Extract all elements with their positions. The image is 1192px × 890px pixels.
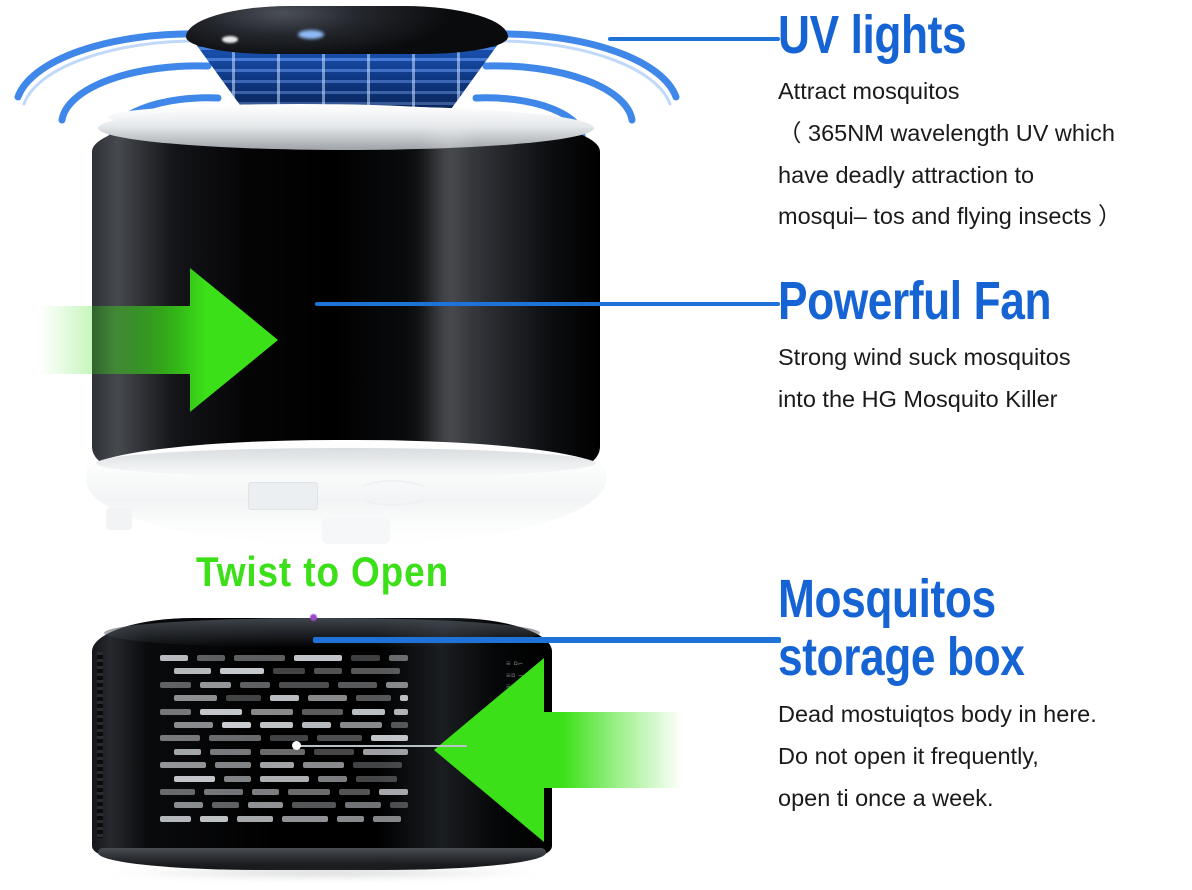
leader-line-storage-box xyxy=(313,637,781,643)
cylinder-gloss-highlight xyxy=(420,126,478,456)
callout-body-storage-box: Dead mostuiqtos body in here. Do not ope… xyxy=(778,694,1190,819)
grille-slot xyxy=(220,668,264,674)
leader-line-vent-endpoint xyxy=(292,741,301,750)
grille-slot xyxy=(215,762,251,768)
grille-slot xyxy=(160,762,206,768)
grille-slot xyxy=(391,722,408,728)
grille-slot xyxy=(273,668,305,674)
grille-slot xyxy=(394,709,408,715)
grille-slot xyxy=(160,709,191,715)
grille-slot xyxy=(373,816,401,822)
leader-line-vent-detail xyxy=(295,745,467,747)
grille-row xyxy=(160,802,410,815)
storage-box-shadow xyxy=(110,866,540,880)
callout-line: Dead mostuiqtos body in here. xyxy=(778,694,1190,736)
grille-slot xyxy=(224,776,251,782)
callout-title-uv-lights: UV lights xyxy=(778,8,1116,62)
grille-slot xyxy=(318,776,347,782)
grille-row xyxy=(160,776,410,789)
grille-slot xyxy=(345,802,381,808)
grille-slot xyxy=(317,735,362,741)
product-infographic: Twist to Open ≡ ¤⌐ ≡¤ ¬⌐ ≡¤ ¬⌐ ≡ ¤⌐ ≡¤ ¬… xyxy=(0,0,1192,890)
grille-slot xyxy=(160,682,191,688)
grille-slot xyxy=(197,655,225,661)
grille-slot xyxy=(200,816,228,822)
grille-slot xyxy=(174,776,215,782)
callout-line: （ 365NM wavelength UV which xyxy=(778,113,1190,155)
base-plate-slot xyxy=(248,482,318,510)
arrow-right-icon xyxy=(40,262,280,418)
grille-slot xyxy=(379,789,408,795)
grille-slot xyxy=(210,749,251,755)
grille-slot xyxy=(294,655,342,661)
grille-slot xyxy=(209,735,261,741)
grille-slot xyxy=(240,682,270,688)
storage-box-top-sheen xyxy=(104,618,540,648)
grille-row xyxy=(160,682,410,695)
base-plate-nub xyxy=(106,508,132,530)
grille-slot xyxy=(386,682,408,688)
grille-slot xyxy=(337,816,364,822)
grille-slot xyxy=(160,816,191,822)
purple-speck xyxy=(310,614,317,621)
grille-slot xyxy=(200,709,242,715)
callout-title-powerful-fan: Powerful Fan xyxy=(778,274,1116,328)
twist-to-open-label: Twist to Open xyxy=(196,548,449,596)
callout-line: have deadly attraction to xyxy=(778,155,1190,197)
callout-line: Do not open it frequently, xyxy=(778,736,1190,778)
cylinder-top-rim xyxy=(98,106,594,150)
callout-mosquitos-storage-box: Mosquitos storage box Dead mostuiqtos bo… xyxy=(778,572,1190,819)
callout-line: Strong wind suck mosquitos xyxy=(778,337,1190,379)
callout-line: open ti once a week. xyxy=(778,778,1190,820)
grille-slot xyxy=(200,682,231,688)
grille-row xyxy=(160,655,410,668)
grille-slot xyxy=(302,722,331,728)
dome-black-cap xyxy=(186,6,508,54)
grille-slot xyxy=(270,735,308,741)
grille-slot xyxy=(308,695,347,701)
grille-slot xyxy=(340,722,382,728)
grille-slot xyxy=(174,668,211,674)
grille-slot xyxy=(160,735,200,741)
base-plate-shading xyxy=(96,448,596,478)
grille-slot xyxy=(260,776,309,782)
grille-slot xyxy=(390,802,408,808)
grille-slot xyxy=(174,749,201,755)
grille-slot xyxy=(160,655,188,661)
uv-dome xyxy=(186,6,508,114)
grille-slot xyxy=(389,655,408,661)
grille-slot xyxy=(160,789,195,795)
arrow-left-icon xyxy=(432,650,682,850)
leader-line-powerful-fan xyxy=(315,302,780,306)
callout-body-uv-lights: Attract mosquitos （ 365NM wavelength UV … xyxy=(778,71,1190,238)
grille-row xyxy=(160,762,410,775)
grille-slot xyxy=(351,655,380,661)
grille-slot xyxy=(371,735,408,741)
grille-slot xyxy=(282,816,328,822)
grille-slot xyxy=(363,749,408,755)
grille-slot xyxy=(260,722,293,728)
base-plate-swirl xyxy=(356,480,430,506)
grille-row xyxy=(160,722,410,735)
leader-line-uv-lights xyxy=(608,37,780,41)
callout-title-storage-box-line2: storage box xyxy=(778,630,1116,684)
grille-slot xyxy=(353,762,402,768)
grille-slot xyxy=(222,722,251,728)
grille-slot xyxy=(251,709,293,715)
grille-slot xyxy=(174,722,213,728)
grille-slot xyxy=(400,695,408,701)
grille-slot xyxy=(356,695,391,701)
grille-slot xyxy=(252,789,279,795)
callout-line: Attract mosquitos xyxy=(778,71,1190,113)
grille-row xyxy=(160,749,410,762)
grille-slot xyxy=(204,789,243,795)
callout-line: into the HG Mosquito Killer xyxy=(778,379,1190,421)
grille-slot xyxy=(260,762,294,768)
grille-row xyxy=(160,789,410,802)
grille-slot xyxy=(314,749,354,755)
grille-slot xyxy=(279,682,329,688)
callout-uv-lights: UV lights Attract mosquitos （ 365NM wave… xyxy=(778,8,1190,238)
callout-line: mosqui– tos and flying insects ） xyxy=(778,196,1190,238)
grille-slot xyxy=(226,695,261,701)
grille-slot xyxy=(234,655,285,661)
grille-slot xyxy=(270,695,299,701)
grille-slot xyxy=(302,709,343,715)
base-plate-foot xyxy=(322,518,390,544)
grille-slot xyxy=(288,789,330,795)
dome-glint xyxy=(222,36,238,43)
grille-slot xyxy=(212,802,239,808)
grille-slot xyxy=(174,695,217,701)
grille-row xyxy=(160,695,410,708)
callout-body-powerful-fan: Strong wind suck mosquitos into the HG M… xyxy=(778,337,1190,421)
grille-slot xyxy=(351,668,400,674)
grille-row xyxy=(160,816,410,829)
ventilation-grille xyxy=(160,655,410,830)
grille-slot xyxy=(338,682,377,688)
grille-slot xyxy=(248,802,283,808)
callout-powerful-fan: Powerful Fan Strong wind suck mosquitos … xyxy=(778,274,1190,421)
grille-slot xyxy=(303,762,344,768)
callout-title-storage-box-line1: Mosquitos xyxy=(778,572,1116,626)
grille-slot xyxy=(237,816,273,822)
storage-box-left-ridge xyxy=(97,652,103,838)
grille-slot xyxy=(352,709,385,715)
dome-glint xyxy=(298,30,324,39)
grille-slot xyxy=(174,802,203,808)
grille-slot xyxy=(292,802,336,808)
grille-slot xyxy=(339,789,370,795)
grille-slot xyxy=(356,776,397,782)
grille-slot xyxy=(314,668,342,674)
grille-row xyxy=(160,668,410,681)
grille-row xyxy=(160,709,410,722)
